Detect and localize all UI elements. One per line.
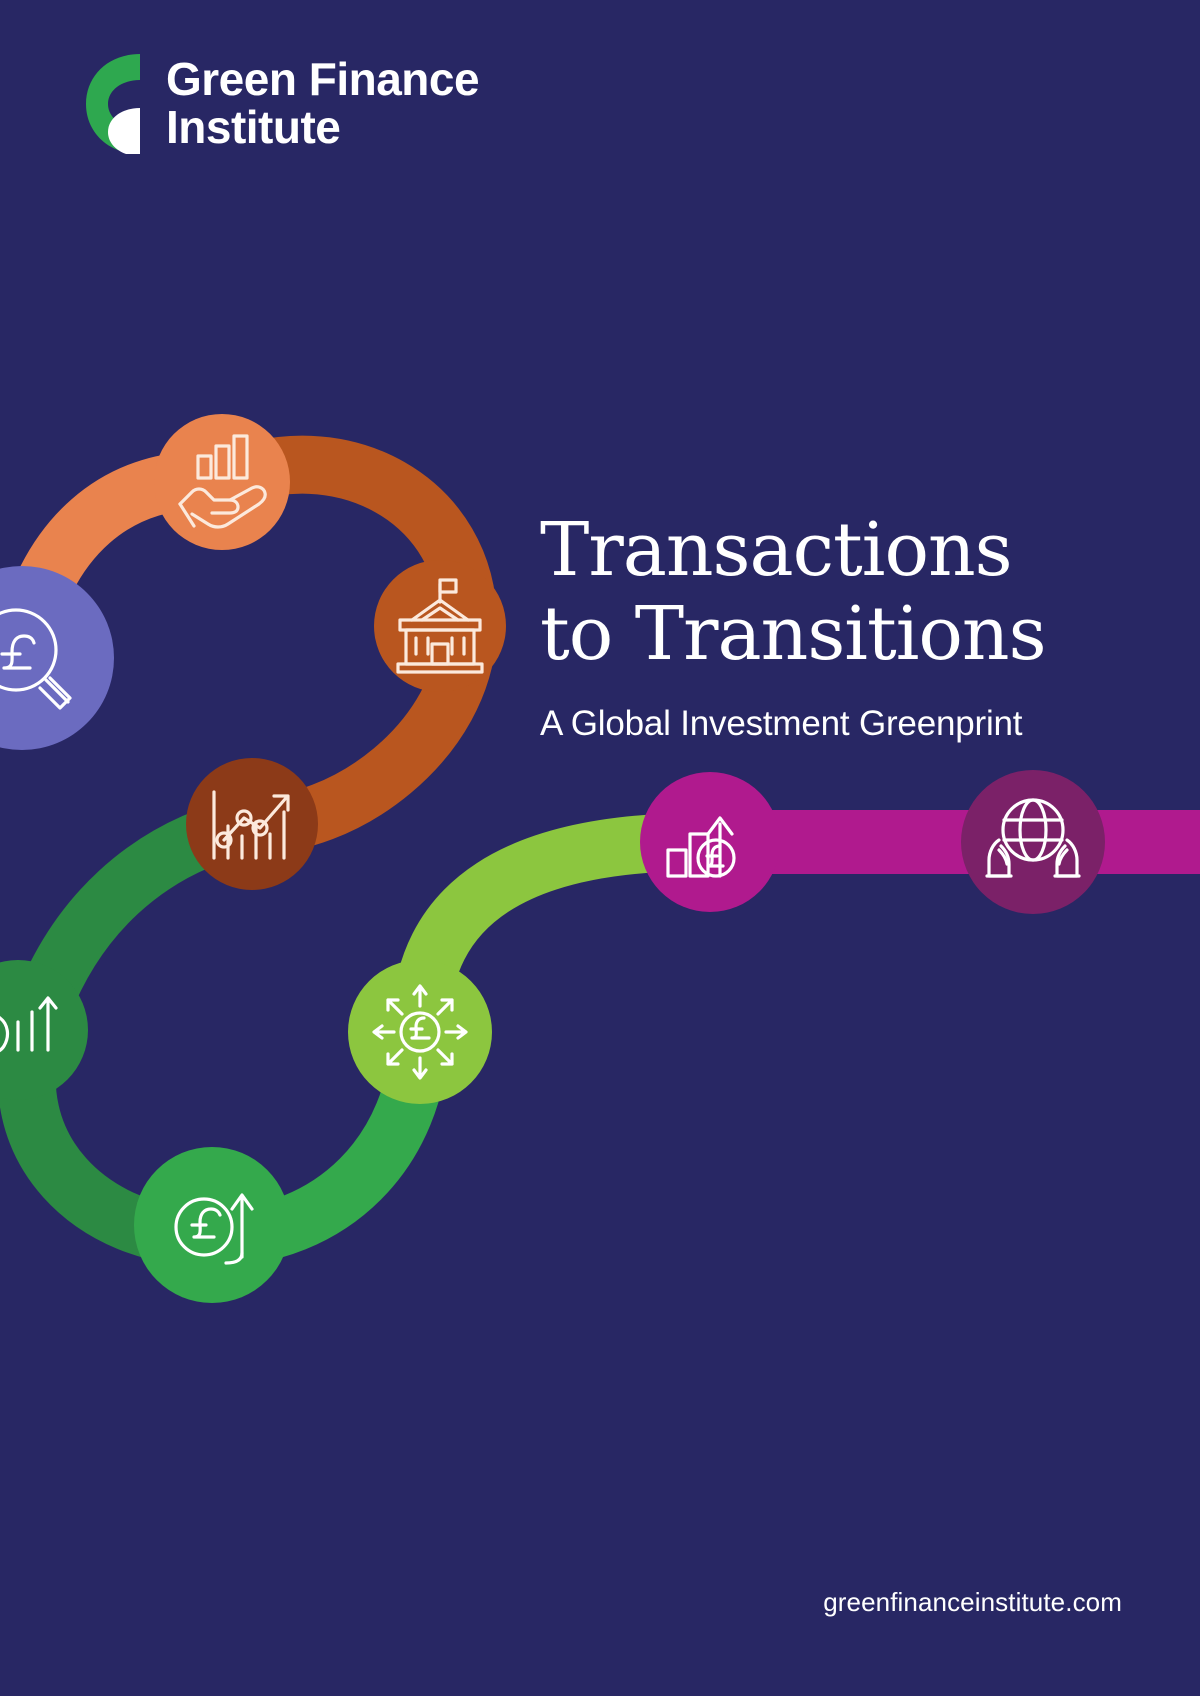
brand-logo[interactable]: Green Finance Institute — [82, 50, 479, 158]
page-subtitle: A Global Investment Greenprint — [540, 703, 1160, 745]
website-url[interactable]: greenfinanceinstitute.com — [823, 1587, 1122, 1618]
node-globe-hands — [961, 770, 1105, 914]
cover-graphic: .ico { fill: none; stroke: #ffffff; stro… — [0, 0, 1200, 1696]
document-cover: .ico { fill: none; stroke: #ffffff; stro… — [0, 0, 1200, 1696]
gfi-logo-mark-icon — [82, 50, 144, 158]
title-block: Transactions to Transitions A Global Inv… — [540, 508, 1160, 745]
node-hand-barchart — [154, 414, 290, 550]
page-title: Transactions to Transitions — [540, 508, 1160, 677]
brand-logo-text: Green Finance Institute — [166, 56, 479, 152]
node-pound-return — [134, 1147, 290, 1303]
node-pound-expand — [348, 960, 492, 1104]
node-magnifier-pound — [0, 566, 114, 750]
